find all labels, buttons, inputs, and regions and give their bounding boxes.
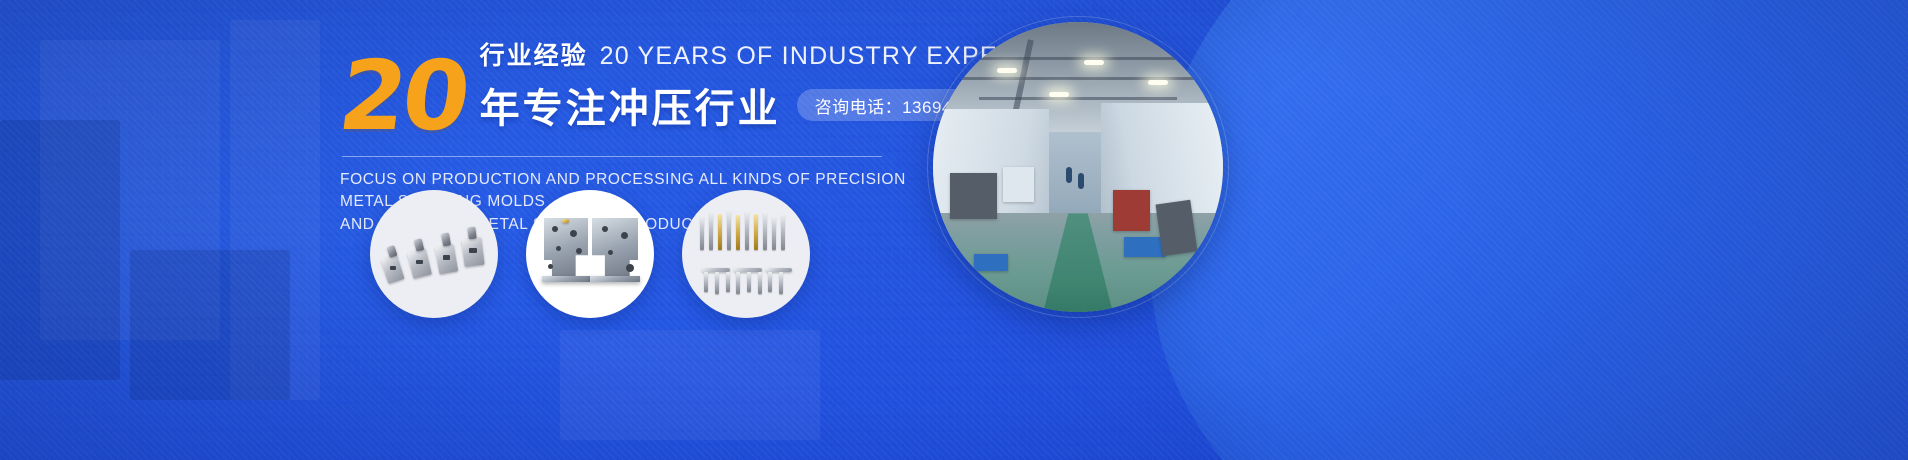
photo-worker-1 (1066, 167, 1072, 183)
die-hole-3 (556, 246, 561, 251)
factory-workshop-photo[interactable] (933, 22, 1223, 312)
terminal-strip-pin-8 (779, 272, 783, 294)
connector-tab-4 (467, 227, 476, 240)
photo-lamp-4 (1049, 92, 1069, 97)
photo-ceiling-beam-1 (945, 57, 1212, 60)
terminal-pin-2 (709, 212, 713, 250)
photo-machine-3 (1003, 167, 1035, 202)
photo-machine-1 (950, 173, 996, 219)
terminal-pin-1 (700, 216, 704, 250)
headline-zh-small: 行业经验 (480, 36, 588, 72)
terminal-strip-pin-3 (726, 272, 730, 292)
die-hole-1 (552, 226, 558, 232)
product-thumbnails (370, 190, 810, 318)
connector-port-4 (469, 248, 477, 253)
photo-lamp-2 (1084, 60, 1104, 65)
terminal-strip-pin-5 (747, 272, 751, 292)
photo-pallet-1 (1124, 237, 1165, 257)
headline-zh-large: 年专注冲压行业 (480, 76, 781, 134)
connector-tab-3 (441, 232, 451, 246)
terminal-strip-pin-6 (758, 272, 762, 294)
terminal-strip-pin-7 (768, 272, 772, 292)
die-hole-9 (548, 264, 553, 269)
terminal-pin-10 (781, 214, 785, 250)
product-circle-usb-connector-shells[interactable] (370, 190, 498, 318)
terminal-pin-9 (772, 216, 776, 250)
die-hole-8 (626, 264, 634, 272)
connector-port-3 (443, 255, 450, 260)
die-hole-2 (570, 230, 577, 237)
connector-tab-2 (414, 238, 425, 252)
photo-pallet-2 (974, 254, 1009, 271)
terminal-strip-pin-1 (704, 272, 708, 292)
die-marker-tab (562, 219, 569, 223)
die-hole-7 (608, 250, 613, 255)
terminal-pin-4 (727, 210, 731, 250)
die-base-right (590, 276, 640, 282)
photo-machine-4 (1156, 200, 1198, 257)
die-base-left (542, 276, 590, 282)
photo-ceiling-beam-3 (979, 97, 1176, 100)
product-circle-metal-terminals[interactable] (682, 190, 810, 318)
terminal-pin-7 (754, 214, 758, 250)
connector-port-2 (416, 260, 423, 264)
photo-lamp-3 (1148, 80, 1168, 85)
photo-worker-2 (1078, 173, 1084, 189)
terminal-pin-5 (736, 215, 740, 250)
product-circle-stamping-die[interactable] (526, 190, 654, 318)
terminal-pin-3 (718, 214, 722, 250)
die-hole-5 (602, 226, 608, 232)
photo-machine-2 (1113, 190, 1151, 231)
die-hole-4 (576, 248, 582, 254)
headline-primary-row: 20 行业经验 20 YEARS OF INDUSTRY EXPERIENCE … (340, 36, 900, 140)
die-half-left (544, 218, 588, 278)
terminal-pin-8 (763, 212, 767, 250)
promo-banner: 20 行业经验 20 YEARS OF INDUSTRY EXPERIENCE … (0, 0, 1908, 460)
terminal-strip-pin-2 (715, 272, 719, 294)
divider-rule (342, 156, 882, 157)
terminal-pin-6 (745, 211, 749, 250)
connector-port-1 (390, 266, 396, 270)
photo-lamp-1 (997, 68, 1017, 73)
background-blue-blob (1150, 0, 1908, 460)
terminal-strip-pin-4 (736, 272, 740, 294)
die-hole-6 (621, 232, 628, 239)
years-number: 20 (335, 52, 471, 140)
